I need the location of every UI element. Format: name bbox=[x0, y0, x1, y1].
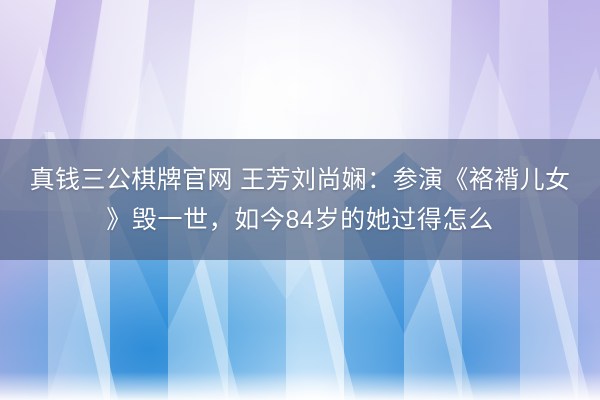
caption-overlay-band: 真钱三公棋牌官网 王芳刘尚娴：参演《袼褙儿女 》毁一世，如今84岁的她过得怎么 bbox=[0, 139, 600, 260]
caption-line-1: 真钱三公棋牌官网 王芳刘尚娴：参演《袼褙儿女 bbox=[30, 160, 571, 200]
decorative-text-banner: 真钱三公棋牌官网 王芳刘尚娴：参演《袼褙儿女 》毁一世，如今84岁的她过得怎么 bbox=[0, 0, 600, 400]
caption-line-2: 》毁一世，如今84岁的她过得怎么 bbox=[106, 200, 493, 240]
